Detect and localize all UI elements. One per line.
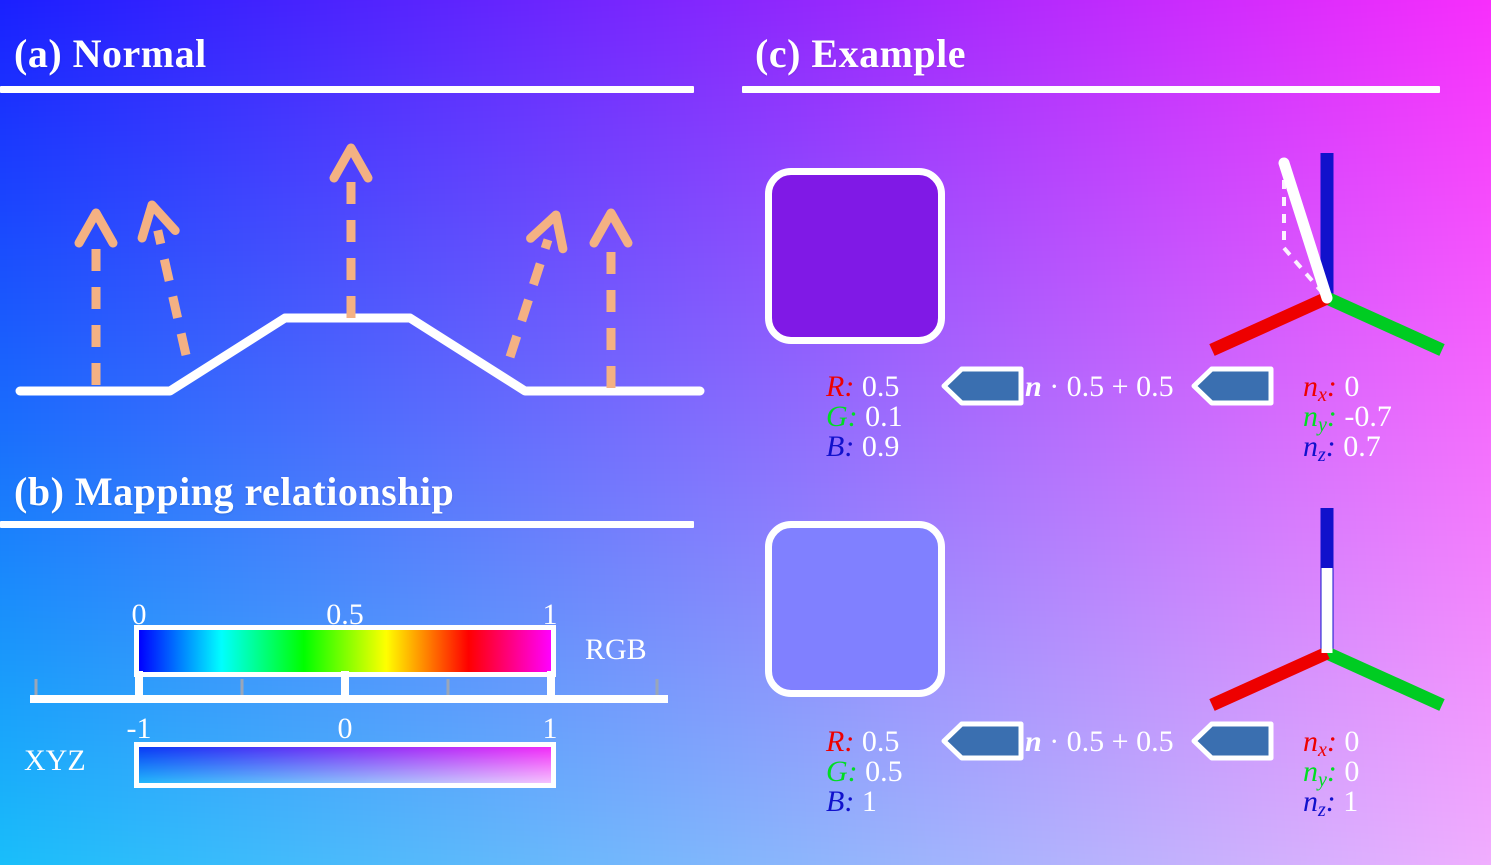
- flow-arrow-1: [944, 369, 1021, 403]
- panel-c-graphics: [0, 0, 1491, 865]
- axis-x-1: [1212, 298, 1327, 350]
- flow-arrow-4: [1194, 724, 1271, 758]
- figure-canvas: (a) Normal (b) Mapping relationship 0 0.…: [0, 0, 1491, 865]
- axis-x-2: [1212, 653, 1327, 705]
- flow-arrow-3: [944, 724, 1021, 758]
- axis-y-2: [1327, 653, 1442, 705]
- flow-arrow-2: [1194, 369, 1271, 403]
- axis-y-1: [1327, 298, 1442, 350]
